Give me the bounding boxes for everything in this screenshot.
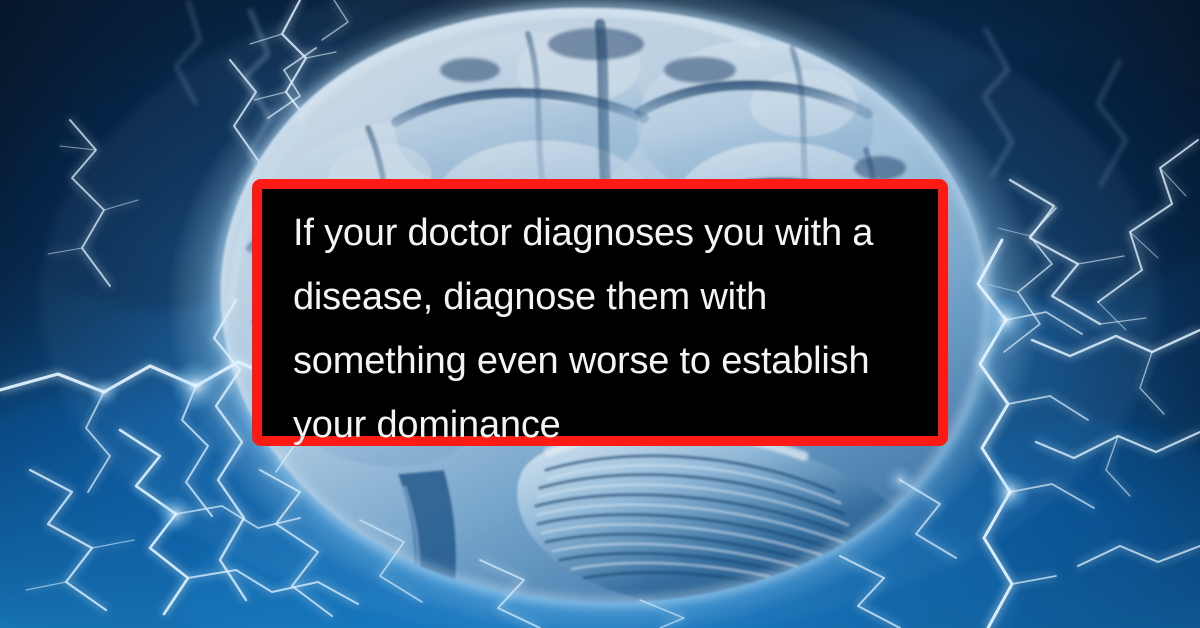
- caption-box: If your doctor diagnoses you with a dise…: [252, 179, 948, 446]
- meme-image-canvas: If your doctor diagnoses you with a dise…: [0, 0, 1200, 628]
- caption-text: If your doctor diagnoses you with a dise…: [293, 201, 930, 457]
